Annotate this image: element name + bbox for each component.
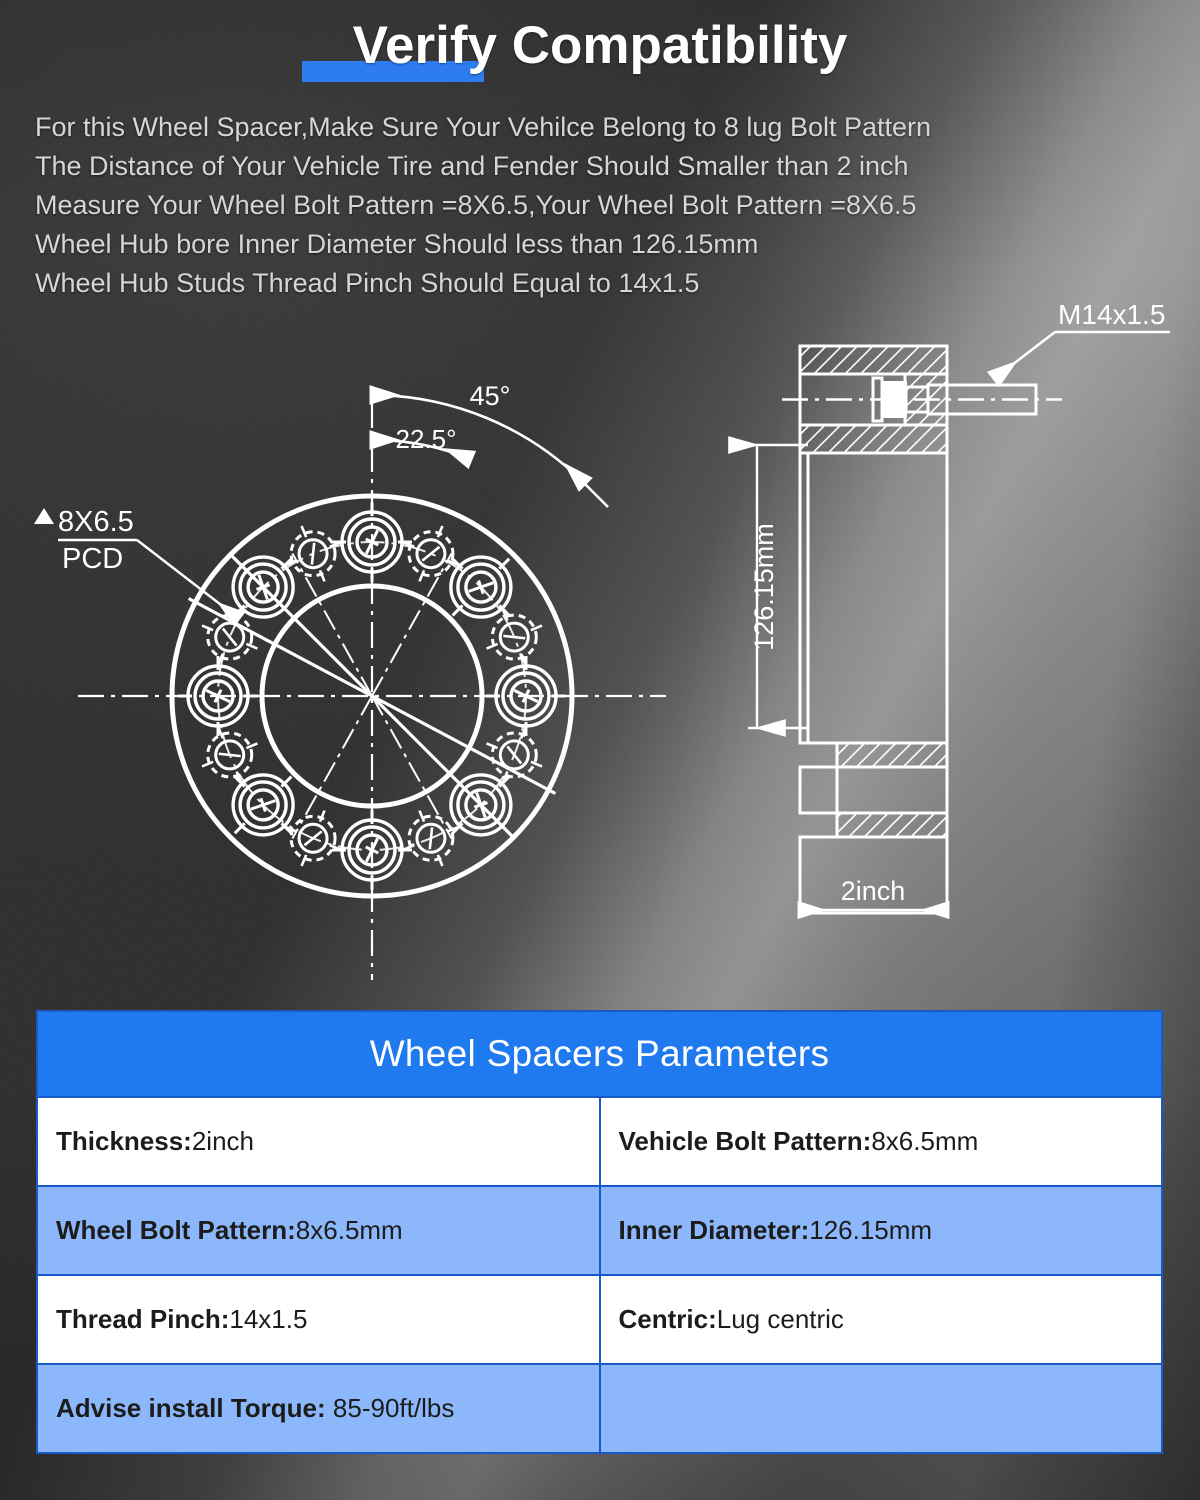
- wheel-spacers-parameters-table: Wheel Spacers Parameters Thickness:2inch…: [36, 1010, 1163, 1454]
- stud-hole: [233, 775, 293, 835]
- parameter-value: 2inch: [192, 1126, 254, 1156]
- stud-hole: [332, 810, 412, 890]
- lug-nut-hole: [202, 727, 257, 782]
- requirement-line: The Distance of Your Vehicle Tire and Fe…: [35, 147, 931, 186]
- parameter-label: Thread Pinch:: [56, 1304, 229, 1334]
- stud-hole: [178, 656, 258, 736]
- angle-45-label: 45°: [470, 381, 511, 411]
- requirement-line: Wheel Hub bore Inner Diameter Should les…: [35, 225, 931, 264]
- header: Verify Compatibility For this Wheel Spac…: [0, 0, 1200, 92]
- lug-nut-hole: [487, 609, 542, 664]
- stud-hole: [332, 502, 412, 582]
- parameter-label: Wheel Bolt Pattern:: [56, 1215, 296, 1245]
- title-wrap: Verify Compatibility: [0, 0, 1200, 92]
- compatibility-requirement-list: For this Wheel Spacer,Make Sure Your Veh…: [35, 108, 931, 303]
- lug-nut-hole: [202, 609, 257, 664]
- requirement-line: Measure Your Wheel Bolt Pattern =8X6.5,Y…: [35, 186, 931, 225]
- parameter-label: Inner Diameter:: [619, 1215, 810, 1245]
- table-cell: Centric:Lug centric: [600, 1275, 1163, 1364]
- stud-hole: [451, 557, 511, 617]
- table-cell: Wheel Bolt Pattern:8x6.5mm: [37, 1186, 600, 1275]
- stud-hole: [486, 656, 566, 736]
- pcd-callout: 8X6.5 PCD: [34, 506, 238, 618]
- table-cell: Vehicle Bolt Pattern:8x6.5mm: [600, 1097, 1163, 1186]
- pcd-label-value: 8X6.5: [58, 506, 134, 538]
- parameter-label: Thickness:: [56, 1126, 192, 1156]
- table-row: Advise install Torque: 85-90ft/lbs: [37, 1364, 1162, 1453]
- parameter-value: 85-90ft/lbs: [326, 1393, 455, 1423]
- table-cell: Inner Diameter:126.15mm: [600, 1186, 1163, 1275]
- angle-22-5-label: 22.5°: [395, 424, 456, 454]
- parameter-label: Advise install Torque:: [56, 1393, 326, 1423]
- table-cell: [600, 1364, 1163, 1453]
- parameter-value: 14x1.5: [229, 1304, 307, 1334]
- page-title: Verify Compatibility: [0, 0, 1200, 92]
- stud-hole: [451, 775, 511, 835]
- table-row: Thickness:2inchVehicle Bolt Pattern:8x6.…: [37, 1097, 1162, 1186]
- thickness-label: 2inch: [841, 876, 906, 906]
- parameter-value: 8x6.5mm: [296, 1215, 403, 1245]
- pcd-leader-line: [137, 540, 238, 618]
- thread-size-label: M14x1.5: [1058, 300, 1165, 330]
- inner-diameter-label: 126.15mm: [749, 523, 779, 651]
- technical-drawing: 45° 22.5° 8X6.5 PCD: [0, 300, 1200, 980]
- requirement-line: Wheel Hub Studs Thread Pinch Should Equa…: [35, 264, 931, 303]
- thread-callout: M14x1.5: [995, 300, 1170, 378]
- thickness-dimension: 2inch: [800, 837, 947, 918]
- table-cell: Thread Pinch:14x1.5: [37, 1275, 600, 1364]
- pcd-label-text: PCD: [62, 543, 123, 575]
- front-view: 45° 22.5° 8X6.5 PCD: [34, 381, 666, 980]
- lug-nut-hole: [487, 727, 542, 782]
- angle-dimension-22-5: 22.5°: [372, 424, 470, 459]
- table-row: Wheel Bolt Pattern:8x6.5mmInner Diameter…: [37, 1186, 1162, 1275]
- parameter-label: Vehicle Bolt Pattern:: [619, 1126, 872, 1156]
- table-row: Thread Pinch:14x1.5Centric:Lug centric: [37, 1275, 1162, 1364]
- table-cell: Advise install Torque: 85-90ft/lbs: [37, 1364, 600, 1453]
- parameter-value: 126.15mm: [809, 1215, 932, 1245]
- centerlines: [78, 402, 666, 980]
- parameter-label: Centric:: [619, 1304, 717, 1334]
- pcd-triangle-icon: [34, 508, 54, 524]
- parameter-value: 8x6.5mm: [871, 1126, 978, 1156]
- table-header: Wheel Spacers Parameters: [37, 1011, 1162, 1097]
- parameter-value: Lug centric: [717, 1304, 844, 1334]
- requirement-line: For this Wheel Spacer,Make Sure Your Veh…: [35, 108, 931, 147]
- stud-hole: [233, 557, 293, 617]
- section-view: M14x1.5 126.15mm 2inch: [748, 300, 1170, 918]
- table-cell: Thickness:2inch: [37, 1097, 600, 1186]
- spacer-body-section: [800, 453, 947, 743]
